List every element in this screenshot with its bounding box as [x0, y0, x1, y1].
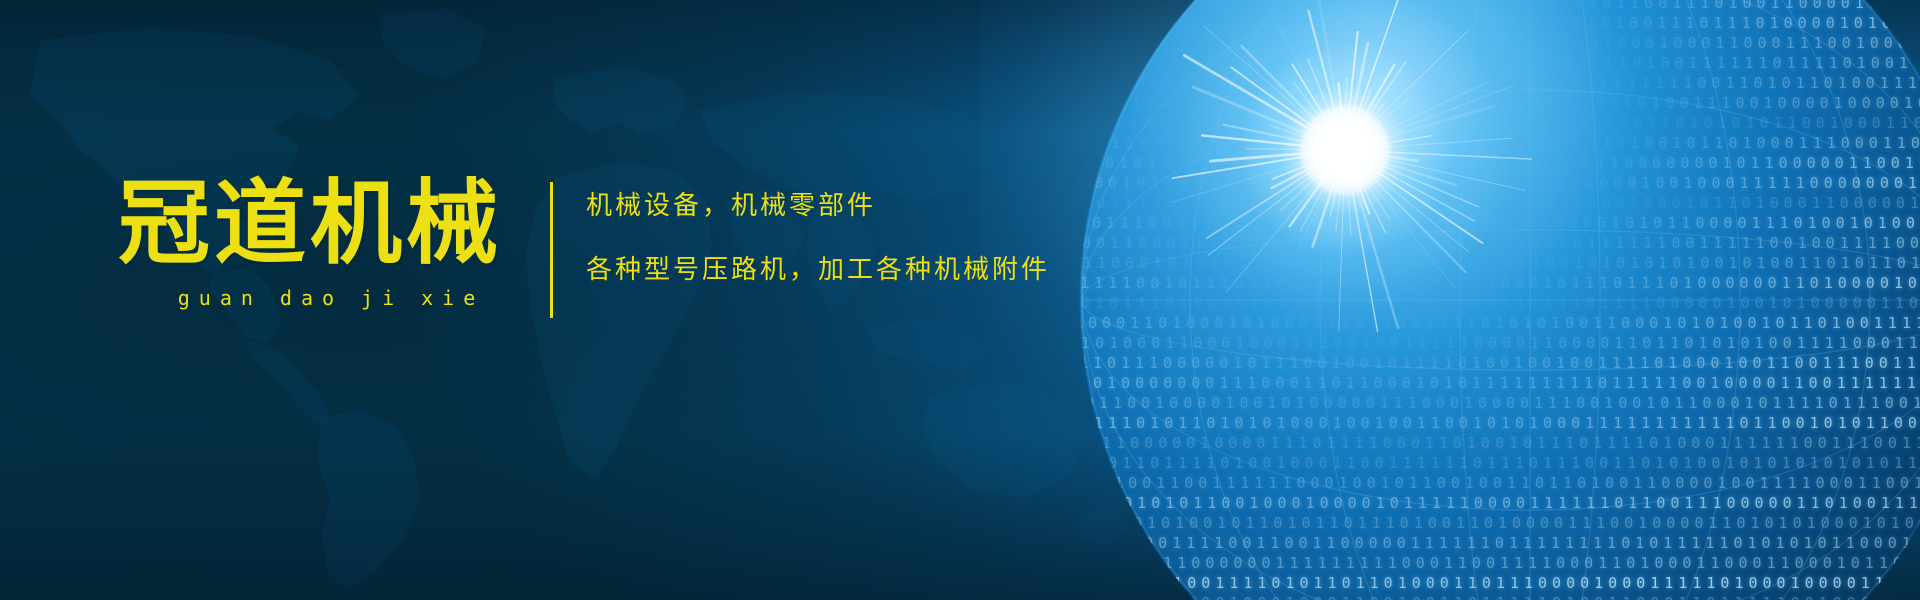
tagline-group: 机械设备，机械零部件 各种型号压路机，加工各种机械附件	[586, 193, 1146, 283]
binary-digit-row: 1101011110000001011110100011011010010110…	[1080, 154, 1920, 172]
binary-digit-row: 1110111011000000111111111000110011110001…	[1080, 554, 1920, 572]
banner-content: 冠道机械 guandaojixie 机械设备，机械零部件 各种型号压路机，加工各…	[0, 0, 1150, 600]
binary-digit-row: 1001100011101110110101011100101100000111…	[1080, 234, 1920, 252]
digital-globe: 0001001001110111101101101110011110101001…	[1080, 0, 1920, 600]
binary-digit-row: 1101110000010111001001011110100100100111…	[1080, 354, 1920, 372]
binary-digit-row: 1000101110000010001011011001101100111001…	[1080, 0, 1920, 12]
binary-digit-row: 1010010100101101011011101001101000011100…	[1080, 514, 1920, 532]
binary-digit-row: 0100000110100000101100111101010100011111…	[1080, 74, 1920, 92]
binary-digit-row: 1011110000001000100011001001101111101001…	[1080, 594, 1920, 600]
binary-digit-row: 1101001010001101101101100101100100110000…	[1080, 114, 1920, 132]
vertical-divider	[550, 182, 553, 318]
pinyin-syllable-3: ji	[361, 286, 403, 310]
binary-digit-row: 1100101011001011111100110011011110101011…	[1080, 54, 1920, 72]
binary-digit-row: 0011110010111011001100100010111100010111…	[1080, 274, 1920, 292]
promotional-banner: 0001001001110111101101101110011110101001…	[0, 0, 1920, 600]
globe-binary-texture: 0001001001110111101101101110011110101001…	[1080, 0, 1920, 600]
binary-digit-row: 1001110101010010011110011011101111001110…	[1080, 14, 1920, 32]
brand-logo: 冠道机械 guandaojixie	[118, 178, 538, 310]
binary-digit-row: 1111001100111111000100101100100110110100…	[1080, 474, 1920, 492]
binary-digit-row: 0110000110100110000000000000111100001010…	[1080, 34, 1920, 52]
binary-digit-row: 1111110001111011111001111000010101110111…	[1080, 134, 1920, 152]
binary-digit-row: 0010111001110111100010000001101100000000…	[1080, 194, 1920, 212]
binary-digit-row: 1110010110110011000101001000010011110110…	[1080, 174, 1920, 192]
binary-digit-row: 1111101011010101000100100110010101000111…	[1080, 414, 1920, 432]
pinyin-syllable-1: guan	[178, 286, 262, 310]
binary-digit-row: 0100000111100110011000001111110111111110…	[1080, 534, 1920, 552]
pinyin-syllable-4: xie	[421, 286, 484, 310]
binary-digit-row: 1010110111101001000110011111101110111001…	[1080, 454, 1920, 472]
binary-digit-row: 0000101110110001101110101011000001010111…	[1080, 94, 1920, 112]
binary-digit-row: 0011001000010010100000111000100001110010…	[1080, 394, 1920, 412]
tagline-line-1: 机械设备，机械零部件	[586, 193, 1146, 219]
binary-digit-row: 1101100000100001110111100011010010111011…	[1080, 434, 1920, 452]
binary-digit-row: 0011100011001111010110011111001110000010…	[1080, 214, 1920, 232]
brand-name-pinyin: guandaojixie	[118, 286, 538, 310]
binary-digit-row: 1110001011111010001101101000010011001010…	[1080, 254, 1920, 272]
binary-digit-row: 0101011101001011001110011011111111111101…	[1080, 294, 1920, 312]
tagline-line-2: 各种型号压路机，加工各种机械附件	[586, 257, 1146, 283]
brand-name-chinese: 冠道机械	[118, 178, 538, 270]
binary-digit-row: 0101000000011100011011000101011111111101…	[1080, 374, 1920, 392]
binary-digit-row: 1000110100010100011101100111101010100110…	[1080, 314, 1920, 332]
pinyin-syllable-2: dao	[280, 286, 343, 310]
binary-digit-row: 1111111100111101011011010001101110000100…	[1080, 574, 1920, 592]
binary-digit-row: 1001001010110010001000010111110000111111…	[1080, 494, 1920, 512]
binary-digit-row: 1010100011000100011100100111110000110000…	[1080, 334, 1920, 352]
